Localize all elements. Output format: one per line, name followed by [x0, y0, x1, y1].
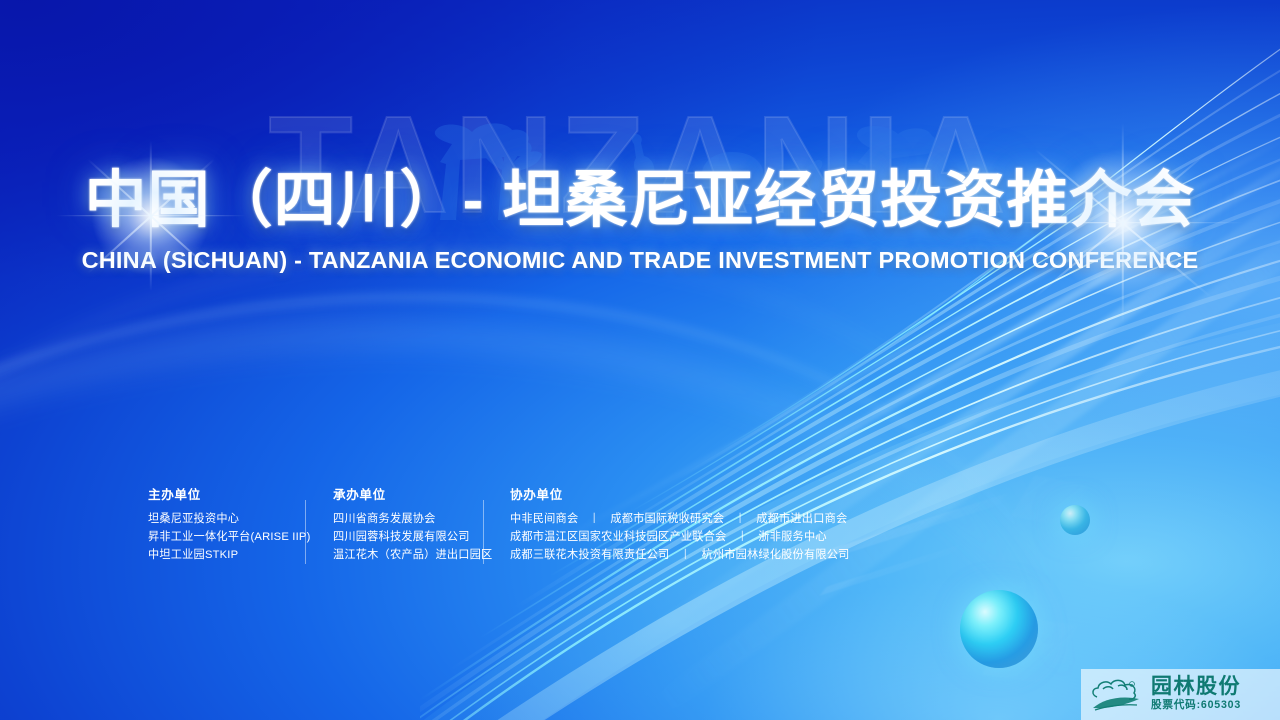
- item-separator: 丨: [730, 531, 755, 543]
- co-organizers-row: 中非民间商会 丨 成都市国际税收研究会 丨 成都市进出口商会: [510, 510, 850, 528]
- organizations-section: 主办单位 坦桑尼亚投资中心 昇非工业一体化平台(ARISE IIP) 中坦工业园…: [148, 484, 850, 564]
- co-organizers-row: 成都市温江区国家农业科技园区产业联合会 丨 浙非服务中心: [510, 528, 850, 546]
- organizers-column: 承办单位 四川省商务发展协会 四川园蓉科技发展有限公司 温江花木（农产品）进出口…: [306, 484, 483, 564]
- tree-cloud-logo-icon: R: [1087, 675, 1149, 715]
- hosts-item: 中坦工业园STKIP: [148, 546, 305, 564]
- co-organizers-column: 协办单位 中非民间商会 丨 成都市国际税收研究会 丨 成都市进出口商会 成都市温…: [484, 484, 850, 564]
- glowing-sphere-large: [960, 590, 1038, 668]
- organizers-item: 四川园蓉科技发展有限公司: [333, 528, 483, 546]
- page-subtitle: CHINA (SICHUAN) - TANZANIA ECONOMIC AND …: [0, 247, 1280, 274]
- logo-text-group: 园林股份 股票代码:605303: [1151, 676, 1241, 713]
- hosts-heading: 主办单位: [148, 484, 305, 503]
- logo-company-name: 园林股份: [1151, 676, 1241, 698]
- page-title: 中国（四川）- 坦桑尼亚经贸投资推介会: [0, 168, 1280, 235]
- hosts-column: 主办单位 坦桑尼亚投资中心 昇非工业一体化平台(ARISE IIP) 中坦工业园…: [148, 484, 305, 564]
- item-separator: 丨: [582, 513, 607, 525]
- co-organizer-item: 浙非服务中心: [758, 531, 826, 543]
- co-organizer-item: 成都市进出口商会: [756, 513, 847, 525]
- hosts-item: 坦桑尼亚投资中心: [148, 510, 305, 528]
- item-separator: 丨: [728, 513, 753, 525]
- co-organizer-item: 中非民间商会: [510, 513, 578, 525]
- co-organizer-item: 杭州市园林绿化股份有限公司: [701, 549, 849, 561]
- co-organizer-item: 成都市国际税收研究会: [610, 513, 724, 525]
- glowing-sphere-small: [1060, 505, 1090, 535]
- organizers-item: 四川省商务发展协会: [333, 510, 483, 528]
- conference-poster: TANZANIA 中国（四川）- 坦桑尼亚经贸投资推介会 CHINA (SICH…: [0, 0, 1280, 720]
- organizers-item: 温江花木（农产品）进出口园区: [333, 546, 483, 564]
- organizers-heading: 承办单位: [333, 484, 483, 503]
- logo-stock-code: 股票代码:605303: [1151, 698, 1241, 713]
- co-organizers-heading: 协办单位: [510, 484, 850, 503]
- co-organizer-item: 成都市温江区国家农业科技园区产业联合会: [510, 531, 726, 543]
- sponsor-logo-panel[interactable]: R 园林股份 股票代码:605303: [1081, 669, 1280, 720]
- title-block: 中国（四川）- 坦桑尼亚经贸投资推介会 CHINA (SICHUAN) - TA…: [0, 168, 1280, 274]
- co-organizers-row: 成都三联花木投资有限责任公司 丨 杭州市园林绿化股份有限公司: [510, 546, 850, 564]
- item-separator: 丨: [673, 549, 698, 561]
- co-organizer-item: 成都三联花木投资有限责任公司: [510, 549, 669, 561]
- hosts-item: 昇非工业一体化平台(ARISE IIP): [148, 528, 305, 546]
